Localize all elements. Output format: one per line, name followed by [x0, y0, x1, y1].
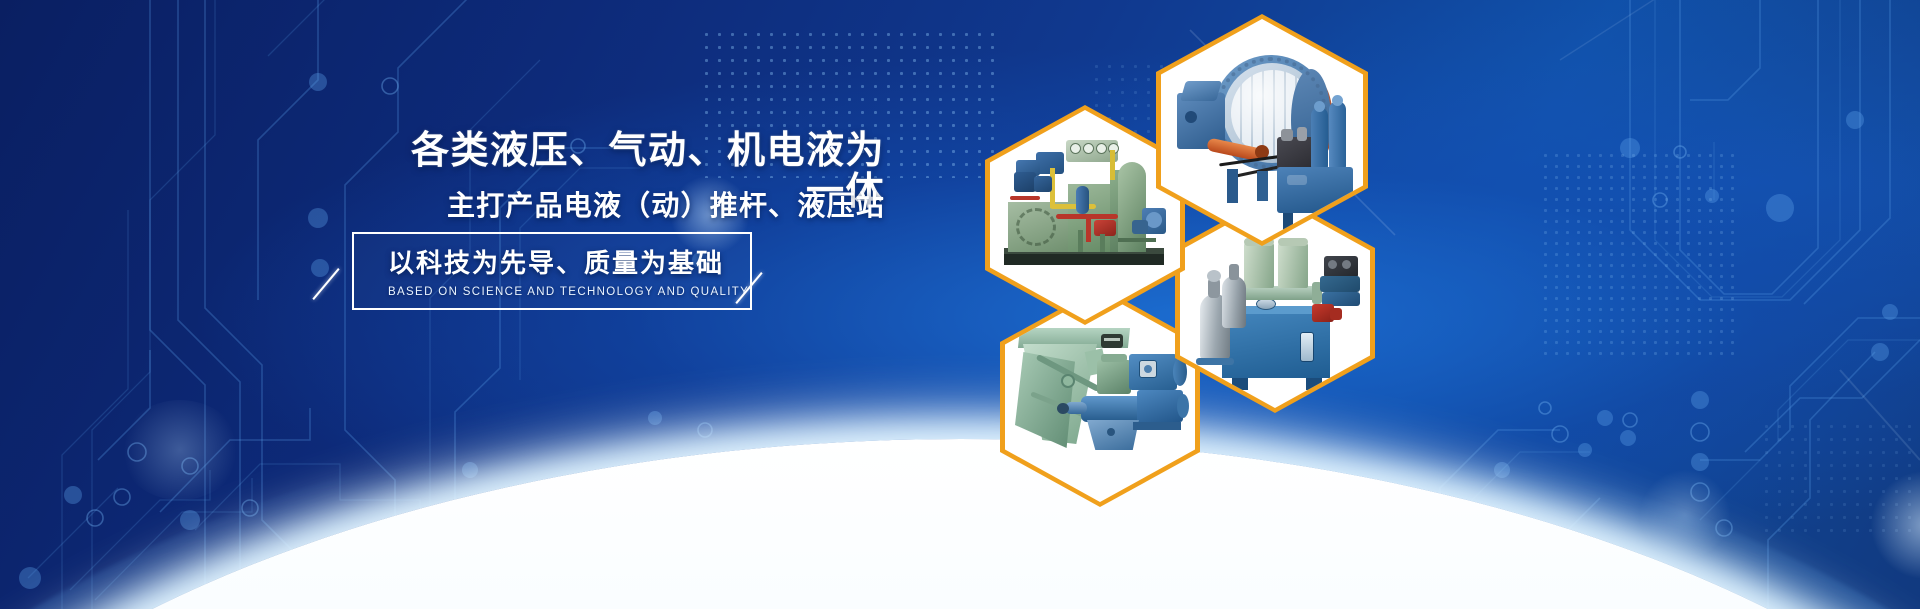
product-photo-electro-hydraulic-pusher-gate — [1005, 292, 1195, 502]
motto-frame: 以科技为先导、质量为基础 BASED ON SCIENCE AND TECHNO… — [352, 232, 862, 310]
motto-chinese: 以科技为先导、质量为基础 — [388, 243, 750, 280]
hex-frame-left[interactable] — [985, 105, 1185, 325]
promo-banner: 各类液压、气动、机电液为一体 主打产品电液（动）推杆、液压站 以科技为先导、质量… — [0, 0, 1920, 609]
headline-block: 各类液压、气动、机电液为一体 主打产品电液（动）推杆、液压站 以科技为先导、质量… — [0, 0, 960, 609]
dot-matrix-grid — [1540, 150, 1740, 360]
banner-subline: 主打产品电液（动）推杆、液压站 — [395, 184, 885, 224]
product-hex-cluster — [960, 0, 1460, 609]
dot-matrix-grid — [1760, 420, 1920, 540]
hex-frame-bottom[interactable] — [1000, 287, 1200, 507]
product-photo-green-hydraulic-pump-station — [990, 110, 1180, 320]
slash-decor-right — [748, 268, 750, 308]
product-photo-hydraulic-butterfly-valve — [1161, 19, 1363, 241]
slash-decor-left — [325, 264, 327, 304]
motto-box: 以科技为先导、质量为基础 BASED ON SCIENCE AND TECHNO… — [352, 232, 752, 310]
motto-english: BASED ON SCIENCE AND TECHNOLOGY AND QUAL… — [388, 286, 750, 298]
hex-frame-top[interactable] — [1156, 14, 1368, 246]
